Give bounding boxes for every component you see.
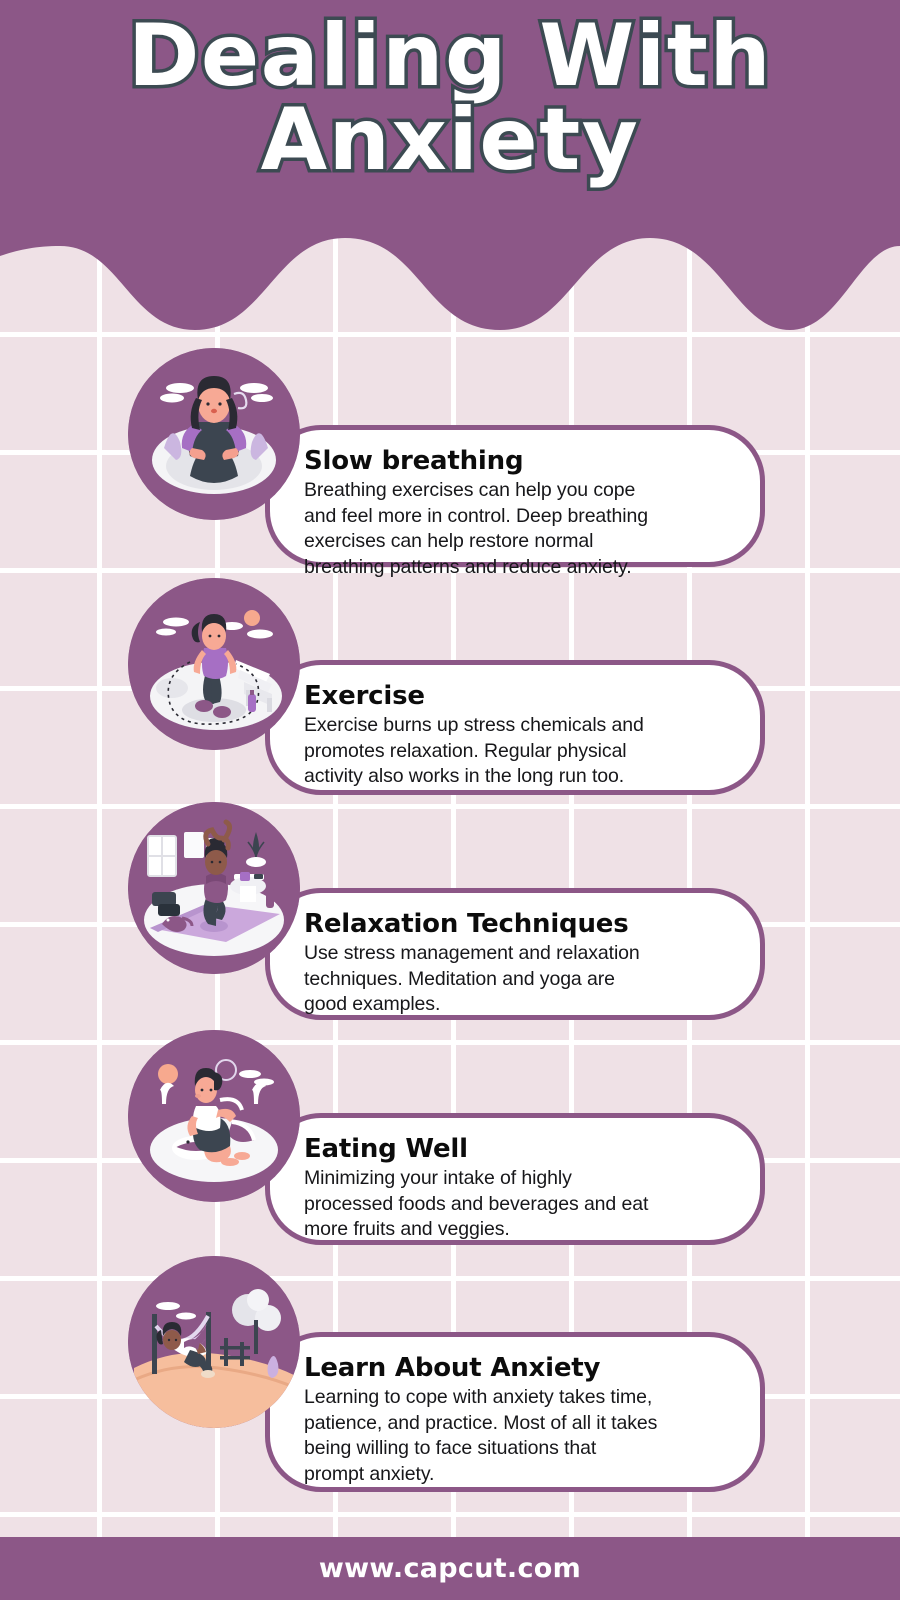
tip-title-4: Eating Well <box>304 1134 726 1164</box>
tip-title-3: Relaxation Techniques <box>304 909 726 939</box>
tip-card-5[interactable]: Learn About Anxiety Learning to cope wit… <box>265 1332 765 1492</box>
tip-body-4: Minimizing your intake of highly process… <box>304 1166 726 1243</box>
tip-body-2: Exercise burns up stress chemicals and p… <box>304 713 726 790</box>
tip-title-1: Slow breathing <box>304 446 726 476</box>
footer-bar: www.capcut.com <box>0 1537 900 1600</box>
tip-illustration-3 <box>128 802 300 974</box>
tips-list: Slow breathing Breathing exercises can h… <box>0 0 900 1600</box>
footer-website-url[interactable]: www.capcut.com <box>319 1553 581 1584</box>
tip-body-1: Breathing exercises can help you cope an… <box>304 478 726 581</box>
tip-illustration-4 <box>128 1030 300 1202</box>
tip-card-1[interactable]: Slow breathing Breathing exercises can h… <box>265 425 765 567</box>
tip-card-3[interactable]: Relaxation Techniques Use stress managem… <box>265 888 765 1020</box>
tip-body-5: Learning to cope with anxiety takes time… <box>304 1385 726 1488</box>
tip-title-2: Exercise <box>304 681 726 711</box>
tip-illustration-5 <box>128 1256 300 1428</box>
tip-card-2[interactable]: Exercise Exercise burns up stress chemic… <box>265 660 765 795</box>
tip-body-3: Use stress management and relaxation tec… <box>304 941 726 1018</box>
tip-title-5: Learn About Anxiety <box>304 1353 726 1383</box>
tip-illustration-1 <box>128 348 300 520</box>
tip-illustration-2 <box>128 578 300 750</box>
tip-card-4[interactable]: Eating Well Minimizing your intake of hi… <box>265 1113 765 1245</box>
